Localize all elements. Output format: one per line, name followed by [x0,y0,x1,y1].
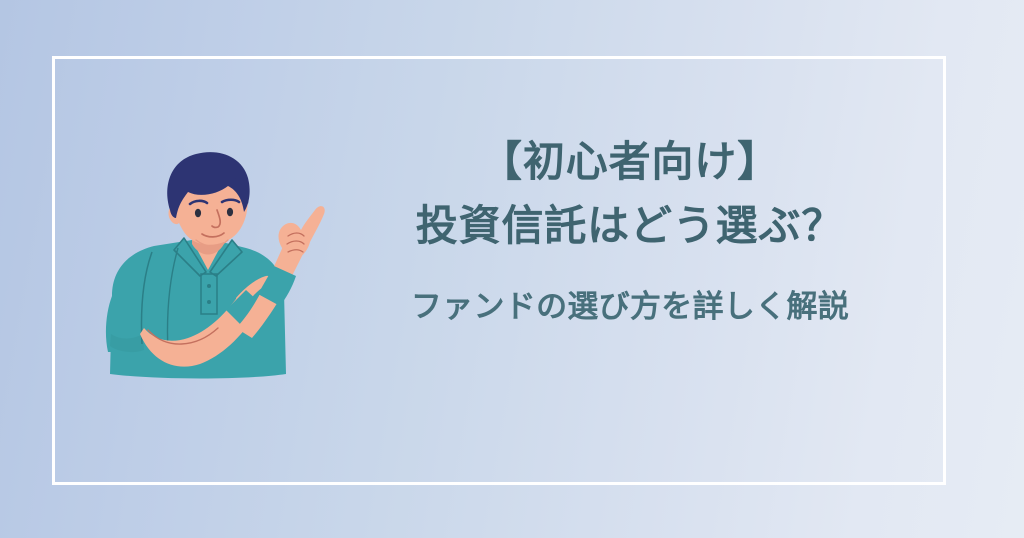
shirt-button-1 [207,284,211,288]
eye-left [195,209,201,218]
text-block: 【初心者向け】 投資信託はどう選ぶ？ ファンドの選び方を詳しく解説 [370,130,890,330]
headline-line-2: 投資信託はどう選ぶ？ [370,194,890,257]
banner-root: 【初心者向け】 投資信託はどう選ぶ？ ファンドの選び方を詳しく解説 [0,0,1024,538]
subheadline: ファンドの選び方を詳しく解説 [370,285,890,330]
pointing-man-illustration [96,148,344,380]
headline-line-1: 【初心者向け】 [370,130,890,194]
eye-right [227,208,233,217]
shirt-button-2 [207,300,211,304]
hand-pointing-up [279,206,325,260]
